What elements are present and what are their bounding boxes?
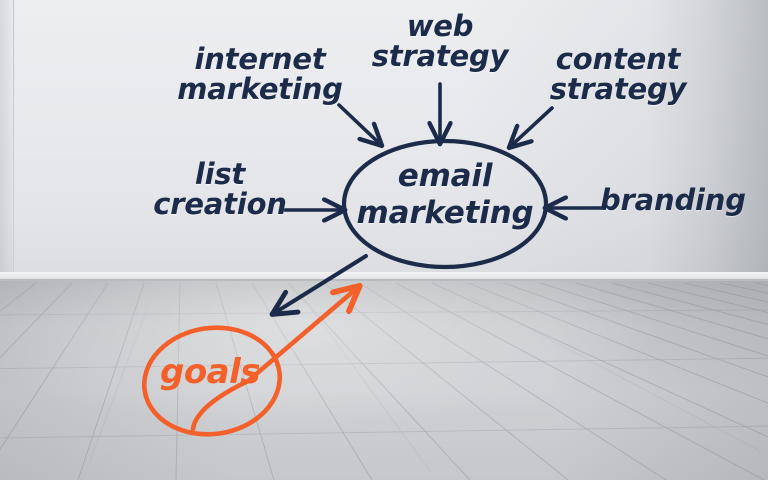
center-node-label: email marketing bbox=[344, 158, 546, 231]
arrow-internet-marketing bbox=[339, 105, 379, 143]
node-label-goals: goals bbox=[155, 352, 265, 392]
node-label-list-creation: list creation bbox=[140, 160, 300, 219]
node-label-branding: branding bbox=[600, 186, 768, 216]
node-label-content-strategy: content strategy bbox=[533, 45, 703, 104]
arrow-content-strategy bbox=[512, 108, 552, 145]
node-label-web-strategy: web strategy bbox=[370, 12, 510, 71]
arrow-center-to-goals bbox=[276, 256, 366, 312]
mindmap-scene: internet marketing web strategy content … bbox=[0, 0, 768, 480]
node-label-internet-marketing: internet marketing bbox=[155, 45, 365, 104]
